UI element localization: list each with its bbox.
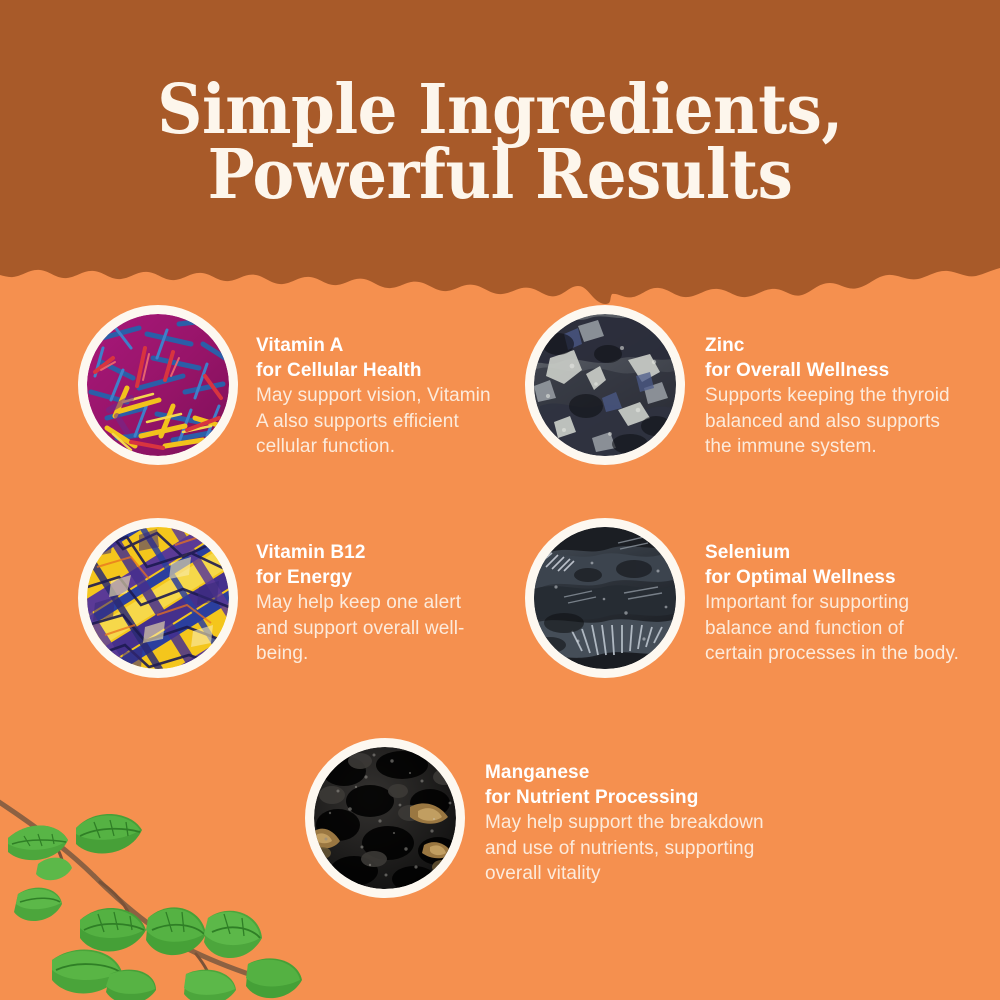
ingredient-text-zinc: Zinc for Overall Wellness Supports keepi…	[705, 305, 955, 460]
ingredient-name: Manganese	[485, 760, 775, 785]
selenium-mineral-layers-icon	[534, 527, 676, 669]
page-title: Simple Ingredients, Powerful Results	[40, 78, 960, 209]
plant-sprig-decoration	[0, 778, 320, 1000]
manganese-ore-nodule-icon	[314, 747, 456, 889]
ingredient-subtitle: for Cellular Health	[256, 358, 498, 383]
infographic-canvas: Simple Ingredients, Powerful Results	[0, 0, 1000, 1000]
ingredient-subtitle: for Energy	[256, 565, 498, 590]
ingredient-name: Zinc	[705, 333, 955, 358]
vitamin-a-crystal-micrograph-icon	[87, 314, 229, 456]
zinc-mineral-ore-icon	[534, 314, 676, 456]
ingredient-description: Important for supporting balance and fun…	[705, 590, 965, 667]
ingredient-description: Supports keeping the thyroid balanced an…	[705, 383, 955, 460]
ingredient-thumbnail-selenium	[525, 518, 685, 678]
vitamin-b12-crystal-micrograph-icon	[87, 527, 229, 669]
ingredient-thumbnail-zinc	[525, 305, 685, 465]
ingredient-name: Vitamin B12	[256, 540, 498, 565]
ingredient-description: May help keep one alert and support over…	[256, 590, 498, 667]
ingredient-subtitle: for Nutrient Processing	[485, 785, 775, 810]
ingredient-subtitle: for Optimal Wellness	[705, 565, 965, 590]
ingredient-description: May help support the breakdown and use o…	[485, 810, 775, 887]
ingredient-card-manganese: Manganese for Nutrient Processing May he…	[305, 738, 775, 898]
ingredient-description: May support vision, Vitamin A also suppo…	[256, 383, 498, 460]
ingredient-subtitle: for Overall Wellness	[705, 358, 955, 383]
ingredient-thumbnail-vitamin-a	[78, 305, 238, 465]
ingredient-card-vitamin-a: Vitamin A for Cellular Health May suppor…	[78, 305, 498, 465]
ingredient-thumbnail-vitamin-b12	[78, 518, 238, 678]
ingredient-text-selenium: Selenium for Optimal Wellness Important …	[705, 518, 965, 667]
ingredient-card-vitamin-b12: Vitamin B12 for Energy May help keep one…	[78, 518, 498, 678]
ingredient-text-manganese: Manganese for Nutrient Processing May he…	[485, 738, 775, 887]
ingredient-name: Selenium	[705, 540, 965, 565]
ingredient-card-selenium: Selenium for Optimal Wellness Important …	[525, 518, 965, 678]
ingredient-text-vitamin-b12: Vitamin B12 for Energy May help keep one…	[256, 518, 498, 667]
ingredient-card-zinc: Zinc for Overall Wellness Supports keepi…	[525, 305, 955, 465]
ingredient-name: Vitamin A	[256, 333, 498, 358]
ingredient-text-vitamin-a: Vitamin A for Cellular Health May suppor…	[256, 305, 498, 460]
page-title-line-2: Powerful Results	[40, 143, 960, 208]
ingredient-thumbnail-manganese	[305, 738, 465, 898]
